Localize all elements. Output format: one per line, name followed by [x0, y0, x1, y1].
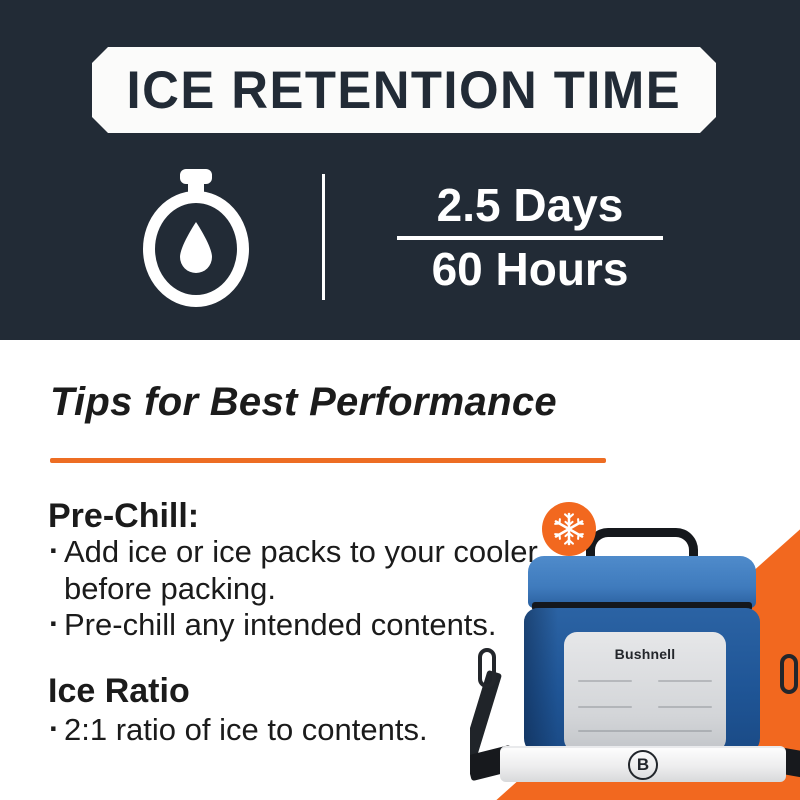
page-title: ICE RETENTION TIME [127, 60, 682, 121]
stopwatch-droplet-icon [140, 167, 252, 307]
tips-heading: Tips for Best Performance [50, 380, 557, 425]
prechill-heading: Pre-Chill: [48, 497, 199, 536]
snowflake-badge [542, 502, 596, 556]
cooler-product: Bushnell B [522, 528, 762, 778]
retention-fraction: 2.5 Days 60 Hours [390, 162, 670, 312]
cooler-body-shading [524, 608, 558, 756]
iceratio-heading: Ice Ratio [48, 672, 190, 711]
stats-divider [322, 174, 325, 300]
stats-row: 2.5 Days 60 Hours [0, 162, 800, 312]
panel-groove [578, 680, 632, 682]
strap-clip-right-icon [780, 654, 798, 694]
title-banner: ICE RETENTION TIME [92, 47, 716, 133]
fraction-rule [397, 236, 663, 240]
retention-hours: 60 Hours [432, 246, 629, 293]
shoulder-strap-pad: B [500, 746, 786, 782]
orange-divider [50, 458, 606, 463]
snowflake-icon [550, 510, 588, 548]
panel-groove [578, 730, 712, 732]
cooler-front-panel: Bushnell [564, 632, 726, 752]
brand-wordmark: Bushnell [564, 646, 726, 662]
cooler-lid [528, 556, 756, 608]
header-band: ICE RETENTION TIME 2.5 Days 60 Hours [0, 0, 800, 340]
strap-clip-left-icon [478, 648, 496, 688]
panel-groove [658, 680, 712, 682]
retention-days: 2.5 Days [437, 182, 624, 229]
panel-groove [658, 706, 712, 708]
panel-groove [578, 706, 632, 708]
brand-b-logo: B [628, 750, 658, 780]
product-image: Bushnell B [470, 470, 800, 800]
